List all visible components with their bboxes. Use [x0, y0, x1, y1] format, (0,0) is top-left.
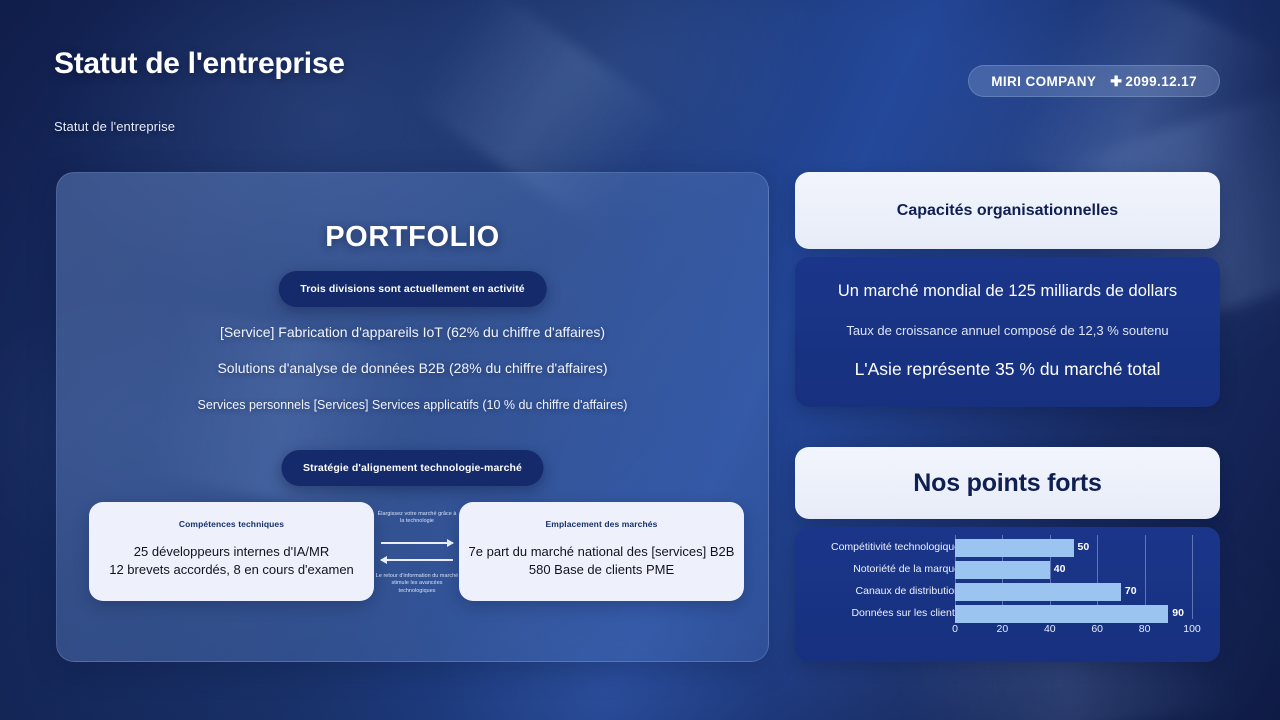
capabilities-header: Capacités organisationnelles — [795, 172, 1220, 249]
chart-category-label: Données sur les clients — [795, 607, 960, 619]
divisions-pill: Trois divisions sont actuellement en act… — [278, 271, 546, 307]
chart-axis-tick: 40 — [1044, 623, 1056, 635]
chart-category-label: Compétitivité technologique — [795, 541, 960, 553]
plus-icon: ✚ — [1110, 74, 1122, 88]
page-title: Statut de l'entreprise — [54, 46, 384, 83]
service-line: Services personnels [Services] Services … — [57, 398, 768, 412]
page-subtitle: Statut de l'entreprise — [54, 119, 175, 134]
card-line: 7e part du marché national des [services… — [459, 543, 744, 561]
market-position-card: Emplacement des marchés 7e part du march… — [459, 502, 744, 601]
fact-item: L'Asie représente 35 % du marché total — [795, 359, 1220, 380]
strengths-header: Nos points forts — [795, 447, 1220, 519]
capabilities-panel: Un marché mondial de 125 milliards de do… — [795, 257, 1220, 407]
chart-bar — [955, 605, 1168, 623]
brand-date-badge[interactable]: MIRI COMPANY ✚ 2099.12.17 — [968, 65, 1220, 97]
card-body: 25 développeurs internes d'IA/MR 12 brev… — [89, 543, 374, 579]
chart-category-label: Notoriété de la marque — [795, 563, 960, 575]
chart-bar — [955, 561, 1050, 579]
fact-item: Un marché mondial de 125 milliards de do… — [795, 282, 1220, 301]
exchange-connector: Élargissez votre marché grâce à la techn… — [375, 511, 459, 593]
card-line: 25 développeurs internes d'IA/MR — [89, 543, 374, 561]
service-line: [Service] Fabrication d'appareils IoT (6… — [57, 324, 768, 340]
chart-value-label: 90 — [1172, 607, 1184, 619]
chart-gridline — [1192, 535, 1193, 619]
chart-value-label: 50 — [1078, 541, 1090, 553]
connector-label-top: Élargissez votre marché grâce à la techn… — [375, 511, 459, 526]
card-line: 12 brevets accordés, 8 en cours d'examen — [89, 561, 374, 579]
chart-bar — [955, 583, 1121, 601]
badge-date: 2099.12.17 — [1125, 74, 1197, 89]
arrow-left-icon — [381, 559, 453, 561]
card-title: Compétences techniques — [89, 519, 374, 529]
brand-name: MIRI COMPANY — [991, 74, 1096, 89]
portfolio-panel: PORTFOLIO Trois divisions sont actuellem… — [56, 172, 769, 662]
arrow-right-icon — [381, 542, 453, 544]
card-title: Emplacement des marchés — [459, 519, 744, 529]
connector-label-bottom: Le retour d'information du marché stimul… — [375, 573, 459, 595]
strengths-chart-panel: Compétitivité technologique50Notoriété d… — [795, 527, 1220, 662]
strengths-bar-chart: Compétitivité technologique50Notoriété d… — [795, 527, 1220, 662]
strategy-pill: Stratégie d'alignement technologie-march… — [281, 450, 544, 486]
portfolio-title: PORTFOLIO — [57, 221, 768, 254]
chart-axis-tick: 80 — [1139, 623, 1151, 635]
chart-axis-tick: 60 — [1091, 623, 1103, 635]
date-wrap: ✚ 2099.12.17 — [1110, 74, 1197, 89]
card-body: 7e part du marché national des [services… — [459, 543, 744, 579]
chart-value-label: 70 — [1125, 585, 1137, 597]
chart-category-label: Canaux de distribution — [795, 585, 960, 597]
card-line: 580 Base de clients PME — [459, 561, 744, 579]
chart-bar — [955, 539, 1074, 557]
chart-axis-tick: 0 — [952, 623, 958, 635]
chart-axis-tick: 100 — [1183, 623, 1201, 635]
chart-axis-tick: 20 — [997, 623, 1009, 635]
chart-value-label: 40 — [1054, 563, 1066, 575]
tech-competence-card: Compétences techniques 25 développeurs i… — [89, 502, 374, 601]
fact-item: Taux de croissance annuel composé de 12,… — [795, 323, 1220, 338]
service-line: Solutions d'analyse de données B2B (28% … — [57, 360, 768, 376]
